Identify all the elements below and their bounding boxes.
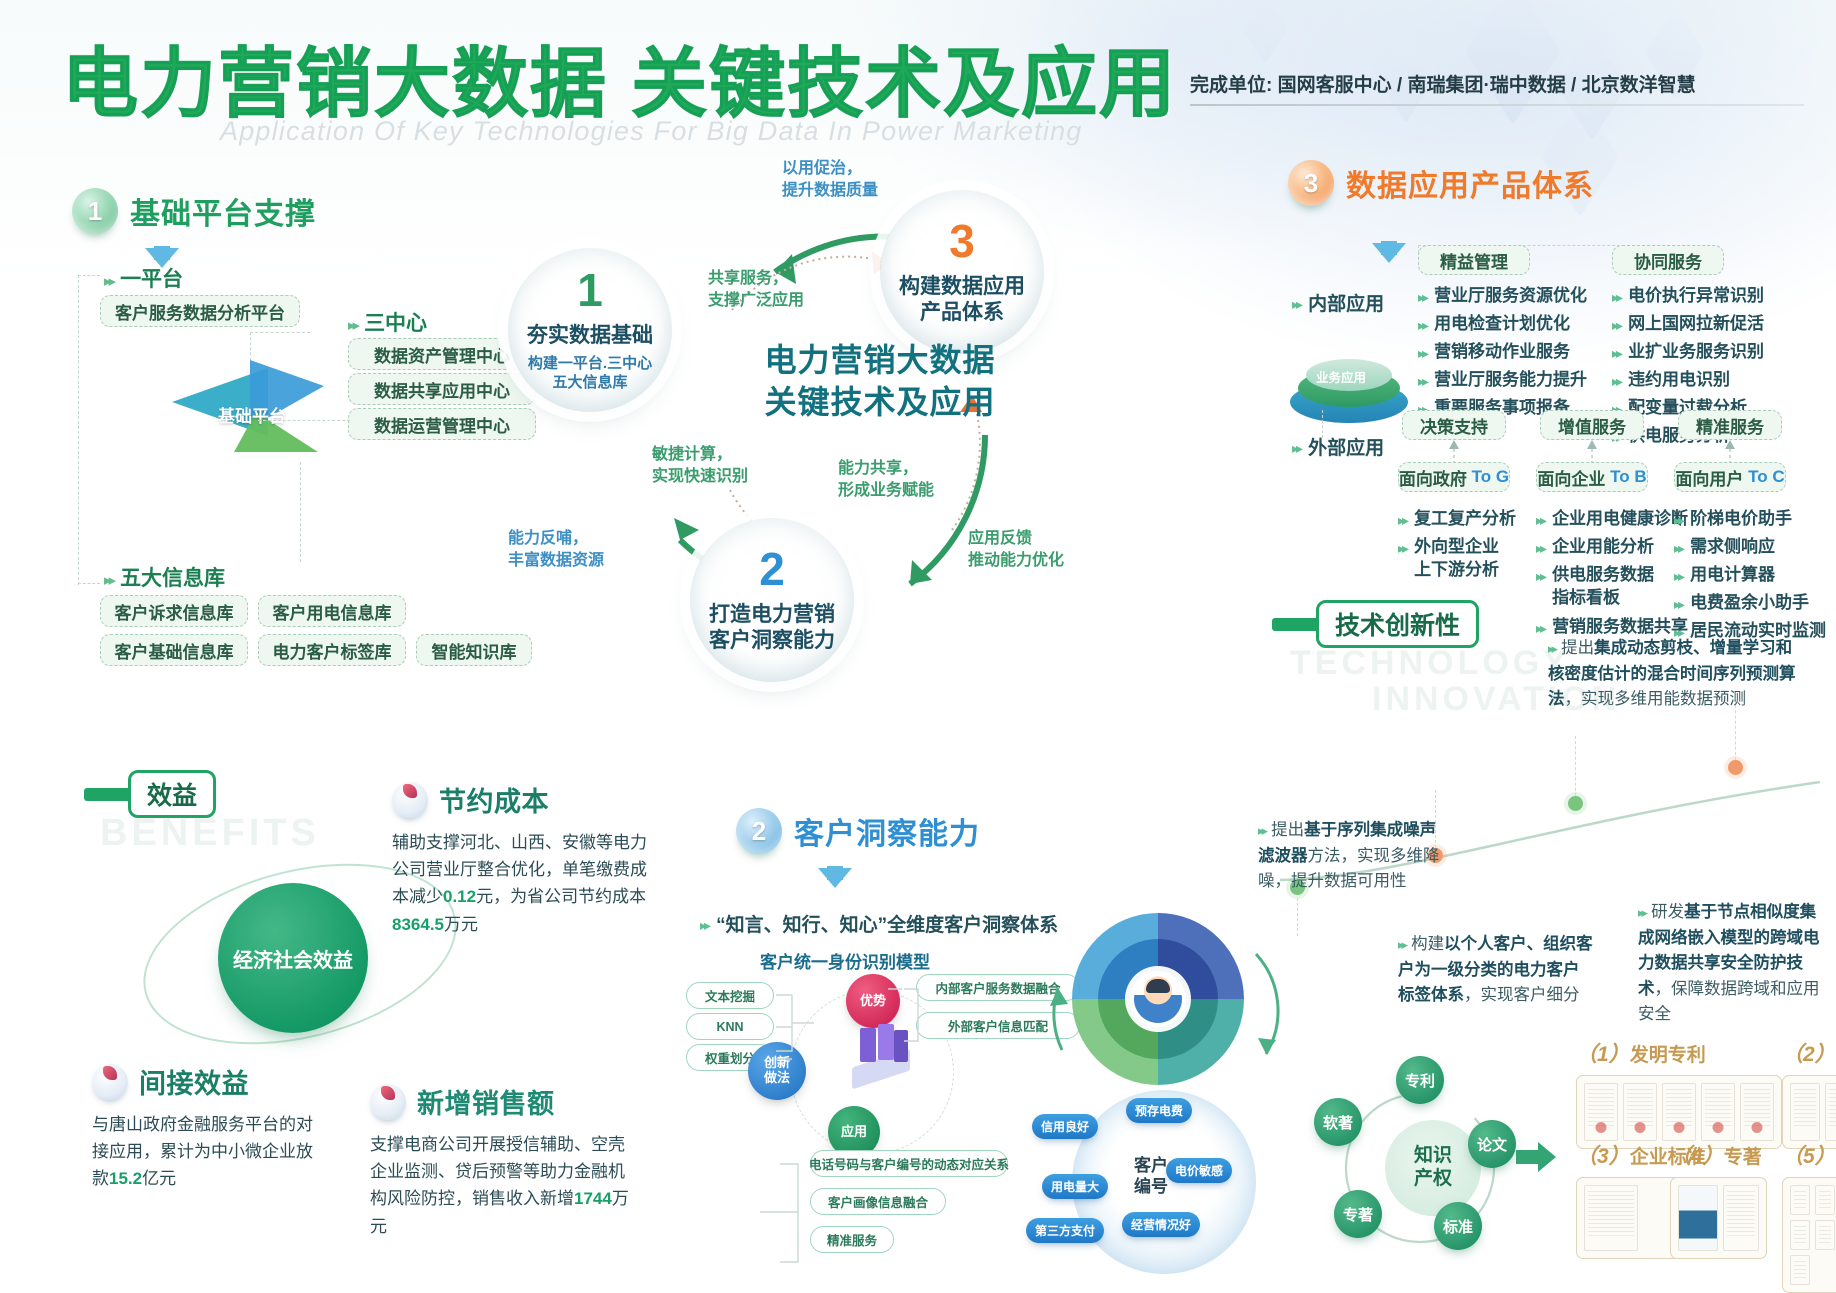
connector-line [78,583,100,584]
audience-chip-to-g[interactable]: 面向政府 To G [1398,462,1510,492]
badge-three-icon: 3 [1288,160,1334,206]
cycle-label-3: 敏捷计算，实现快速识别 [652,444,748,487]
product-item[interactable]: ▸▸业扩业务服务识别 [1612,341,1764,364]
group-chip-lean-management[interactable]: 精益管理 [1418,245,1530,275]
customer-tag[interactable]: 预存电费 [1126,1098,1192,1123]
section-number: 1 [72,188,118,234]
credits-divider [1190,104,1804,106]
benefit-icon [92,1064,128,1100]
benefit-text: 辅助支撑河北、山西、安徽等电力公司营业厅整合优化，单笔缴费成本减少0.12元，为… [392,829,662,938]
poster-canvas: 电力营销大数据 关键技术及应用 Application Of Key Techn… [0,0,1836,1280]
benefit-title: 节约成本 [439,780,549,819]
chip-database[interactable]: 智能知识库 [416,634,532,666]
section-title-platform: 基础平台支撑 [130,189,316,233]
chip-center[interactable]: 数据共享应用中心 [348,373,536,405]
pyramid-label: 基础平台 [218,402,286,427]
doc-group-software: （5）软件著作 [1782,1140,1836,1293]
benefit-title: 间接效益 [139,1062,249,1101]
cycle-label-1: 以用促治，提升数据质量 [782,158,878,201]
tag-innovation: 技术创新性 [1272,600,1479,648]
product-item[interactable]: ▸▸网上国网拉新促活 [1612,313,1764,336]
cycle-label-5: 能力反哺，丰富数据资源 [508,528,604,571]
curve-stem [1575,736,1576,796]
section-heading-platform: 1 基础平台支撑 [72,188,316,234]
section-title-insight: 客户洞察能力 [794,809,980,853]
doc-page [1790,1185,1810,1215]
innovation-item-3: ▸▸提出集成动态剪枝、增量学习和核密度估计的混合时间序列预测算法，实现多维用能数… [1548,636,1804,713]
poster-header: 电力营销大数据 关键技术及应用 Application Of Key Techn… [0,0,1836,160]
benefit-title: 新增销售额 [417,1082,555,1121]
disc-label: 业务应用 [1316,367,1366,386]
doc-group-paper: （2）论文 [1782,1038,1836,1149]
product-item[interactable]: ▸▸营业厅服务能力提升 [1418,369,1587,392]
product-item[interactable]: ▸▸用电计算器 [1674,564,1775,587]
doc-frame [1782,1075,1836,1149]
doc-page [1584,1185,1638,1251]
chip-center[interactable]: 数据资产管理中心 [348,338,536,370]
connector-line [1322,410,1323,438]
tag-bar [1272,618,1320,631]
connector-line [78,275,100,276]
curve-dot [1568,796,1583,811]
tag-benefits: 效益 [84,770,216,818]
customer-tag[interactable]: 信用良好 [1032,1114,1098,1139]
connector-arrows [1400,438,1800,464]
doc-page [1825,1083,1836,1141]
group-label-three-centers: ▸▸三中心 [348,307,427,337]
innovation-item-1: ▸▸提出基于序列集成噪声滤波器方法，实现多维降噪，提升数据可用性 [1258,818,1444,895]
product-item[interactable]: ▸▸供电服务数据指标看板 [1536,564,1662,610]
label-external-application: ▸▸外部应用 [1292,436,1384,462]
doc-page [1723,1185,1759,1251]
circle-economic-social-benefit: 经济社会效益 [218,883,368,1033]
benefit-indirect: 间接效益 与唐山政府金融服务平台的对接应用，累计为中小微企业放款15.2亿元 [92,1062,324,1193]
doc-frame [1782,1177,1836,1293]
innovation-item-2: ▸▸构建以个人客户、组织客户为一级分类的电力客户标签体系，实现客户细分 [1398,932,1594,1009]
doc-group-patents: （1）发明专利 [1576,1038,1782,1149]
credits-text: 完成单位: 国网客服中心 / 南瑞集团·瑞中数据 / 北京数洋智慧 [1190,70,1696,97]
product-item[interactable]: ▸▸用电检查计划优化 [1418,313,1570,336]
business-application-disc: 业务应用 [1290,355,1410,427]
product-item[interactable]: ▸▸外向型企业上下游分析 [1398,536,1516,582]
section-heading-products: 3 数据应用产品体系 [1288,160,1594,206]
doc-caption: （4）专著 [1670,1140,1767,1170]
arrow-right-icon [1516,1140,1570,1180]
cycle-label-6: 应用反馈推动能力优化 [968,528,1064,571]
chip-database[interactable]: 客户诉求信息库 [100,595,248,627]
curve-dot [1728,760,1743,775]
chip-database[interactable]: 客户用电信息库 [258,595,406,627]
product-item[interactable]: ▸▸企业用能分析 [1536,536,1654,559]
benefit-icon [370,1084,406,1120]
ip-node-software[interactable]: 软著 [1314,1098,1362,1146]
doc-page [1790,1220,1810,1250]
ip-node-paper[interactable]: 论文 [1468,1120,1516,1168]
product-item[interactable]: ▸▸营业厅服务资源优化 [1418,285,1587,308]
tag-bar [84,788,132,801]
ghost-benefits: BENEFITS [100,812,320,855]
benefit-new-sales: 新增销售额 支撑电商公司开展授信辅助、空壳企业监测、贷后预警等助力金融机构风险防… [370,1082,632,1240]
innovation-item-4: ▸▸研发基于节点相似度集成网络嵌入模型的跨域电力数据共享安全防护技术，保障数据跨… [1638,900,1824,1028]
chip-database[interactable]: 电力客户标签库 [258,634,406,666]
benefit-cost-saving: 节约成本 辅助支撑河北、山西、安徽等电力公司营业厅整合优化，单笔缴费成本减少0.… [392,780,662,938]
tag-label: 效益 [128,770,216,818]
customer-tag[interactable]: 经营情况好 [1122,1212,1200,1237]
ip-node-monograph[interactable]: 专著 [1334,1190,1382,1238]
doc-caption: （5）软件著作 [1782,1140,1836,1170]
product-item[interactable]: ▸▸需求侧响应 [1674,536,1775,559]
group-chip-precision-service[interactable]: 精准服务 [1678,410,1782,440]
connector-line [78,275,79,585]
section-heading-insight: 2 客户洞察能力 [736,808,980,854]
cycle-label-2: 共享服务，支撑广泛应用 [708,268,804,311]
ip-node-patent[interactable]: 专利 [1396,1056,1444,1104]
doc-frame [1576,1075,1782,1149]
doc-page [1790,1255,1810,1285]
chip-center[interactable]: 数据运营管理中心 [348,408,536,440]
label-internal-application: ▸▸内部应用 [1292,292,1384,318]
badge-two-icon: 2 [736,808,782,854]
audience-chip-to-c[interactable]: 面向用户 To C [1674,462,1786,492]
product-item[interactable]: ▸▸违约用电识别 [1612,369,1730,392]
doc-page [1678,1185,1718,1251]
group-chip-collaborative-service[interactable]: 协同服务 [1612,245,1724,275]
customer-number-label: 客户 编号 [1134,1155,1168,1198]
benefit-text: 与唐山政府金融服务平台的对接应用，累计为中小微企业放款15.2亿元 [92,1111,324,1193]
doc-page [1815,1185,1835,1215]
doc-page [1740,1083,1774,1141]
chip-platform[interactable]: 客户服务数据分析平台 [100,295,300,327]
doc-caption: （2）论文 [1782,1038,1836,1068]
group-chip-value-added-service[interactable]: 增值服务 [1540,410,1644,440]
ip-node-standard[interactable]: 标准 [1434,1202,1482,1250]
benefit-icon [392,782,428,818]
doc-page [1815,1220,1835,1250]
doc-caption: （1）发明专利 [1576,1038,1782,1068]
section-title-products: 数据应用产品体系 [1346,161,1594,205]
pyramid-graphic: 基础平台 [172,352,344,462]
arrow-down-icon [1372,243,1406,263]
badge-one-icon: 1 [72,188,118,234]
tag-label: 技术创新性 [1316,600,1479,648]
group-label-five-databases: ▸▸五大信息库 [104,562,225,592]
product-item[interactable]: ▸▸复工复产分析 [1398,508,1516,531]
benefit-text: 支撑电商公司开展授信辅助、空壳企业监测、贷后预警等助力金融机构风险防控，销售收入… [370,1131,632,1240]
arrow-down-icon [818,868,852,888]
doc-page [1623,1083,1657,1141]
insight-headline: ▸▸“知言、知行、知心”全维度客户洞察体系 [700,913,1058,939]
group-chip-decision-support[interactable]: 决策支持 [1402,410,1506,440]
product-item[interactable]: ▸▸营销移动作业服务 [1418,341,1570,364]
connector-line [258,420,350,421]
group-label-one-platform: ▸▸一平台 [104,263,183,293]
chip-database[interactable]: 客户基础信息库 [100,634,248,666]
doc-page [1701,1083,1735,1141]
doc-page [1662,1083,1696,1141]
doc-group-monograph: （4）专著 [1670,1140,1767,1259]
customer-tag[interactable]: 电价敏感 [1166,1158,1232,1183]
customer-tag[interactable]: 用电量大 [1042,1174,1108,1199]
connector-line [300,462,301,562]
cycle-node-2[interactable]: 2 打造电力营销 客户洞察能力 [690,518,854,682]
doc-frame [1670,1177,1767,1259]
product-item[interactable]: ▸▸企业用电健康诊断 [1536,508,1688,531]
cycle-label-4: 能力共享，形成业务赋能 [838,458,934,501]
doc-page [1790,1083,1820,1141]
customer-tag[interactable]: 第三方支付 [1026,1218,1104,1243]
audience-chip-to-b[interactable]: 面向企业 To B [1536,462,1648,492]
product-item[interactable]: ▸▸电价执行异常识别 [1612,285,1764,308]
connector-line [250,332,310,333]
ghost-technology: TECHNOLOGY [1290,644,1570,683]
application-connectors [752,1150,872,1270]
doc-page [1584,1083,1618,1141]
cycle-node-1[interactable]: 1 夯实数据基础 构建一平台.三中心 五大信息库 [508,248,672,412]
product-item[interactable]: ▸▸电费盈余小助手 [1674,592,1809,615]
cycle-node-3[interactable]: 3 构建数据应用 产品体系 [880,190,1044,354]
curve-stem [1297,898,1298,936]
product-item[interactable]: ▸▸阶梯电价助手 [1674,508,1792,531]
wheel-arrows [1040,930,1280,1090]
cycle-center-title: 电力营销大数据 关键技术及应用 [730,340,1030,423]
page-subtitle: Application Of Key Technologies For Big … [220,116,1083,147]
